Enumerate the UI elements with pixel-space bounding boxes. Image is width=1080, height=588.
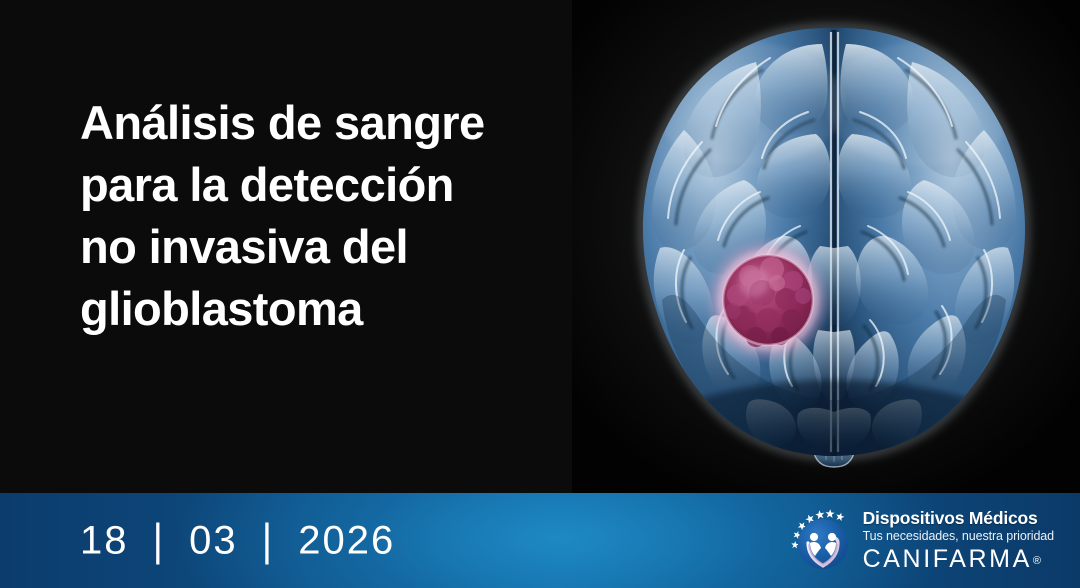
date-day: 18 bbox=[80, 518, 129, 562]
date-month: 03 bbox=[189, 518, 238, 562]
date-year: 2026 bbox=[298, 518, 395, 562]
brain-illustration bbox=[572, 0, 1080, 493]
brain-artwork-panel bbox=[572, 0, 1080, 493]
logo-brand: CANIFARMA ® bbox=[863, 547, 1041, 572]
logo-brand-word: CANIFARMA bbox=[863, 547, 1032, 572]
poster-root: Análisis de sangre para la detección no … bbox=[0, 0, 1080, 588]
date-separator-1: | bbox=[153, 515, 165, 565]
headline-panel: Análisis de sangre para la detección no … bbox=[0, 0, 572, 493]
page-title: Análisis de sangre para la detección no … bbox=[80, 92, 580, 340]
canifarma-emblem-icon bbox=[789, 509, 853, 573]
canifarma-logo: Dispositivos Médicos Tus necesidades, nu… bbox=[789, 509, 1054, 573]
logo-tagline: Tus necesidades, nuestra prioridad bbox=[863, 530, 1054, 543]
emblem-svg bbox=[789, 509, 853, 573]
registered-mark-icon: ® bbox=[1033, 556, 1041, 567]
tumor-lesion bbox=[706, 238, 830, 362]
emblem-circle bbox=[798, 519, 848, 569]
date-separator-2: | bbox=[262, 515, 274, 565]
logo-title: Dispositivos Médicos bbox=[863, 510, 1038, 528]
brain-svg bbox=[572, 0, 1080, 493]
event-date: 18 | 03 | 2026 bbox=[80, 518, 395, 563]
bottom-banner: 18 | 03 | 2026 bbox=[0, 493, 1080, 588]
logo-text-block: Dispositivos Médicos Tus necesidades, nu… bbox=[863, 510, 1054, 572]
